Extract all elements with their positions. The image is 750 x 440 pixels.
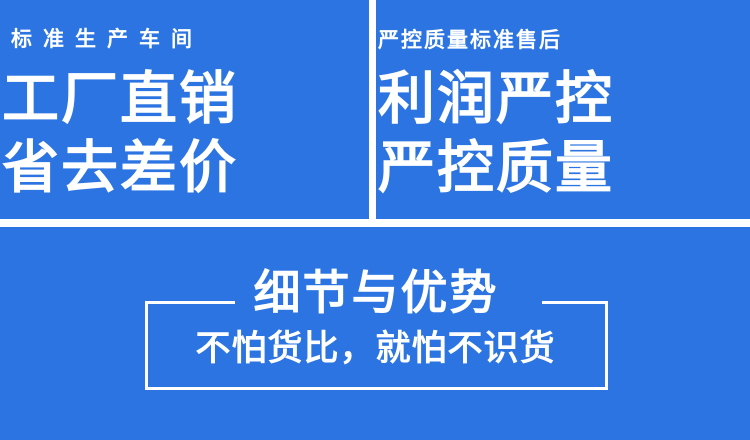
- panel-quality-control: 严控质量标准售后 利润严控 严控质量: [376, 0, 750, 219]
- panel-right-headline-line1: 利润严控: [376, 71, 750, 128]
- promo-banner: 标准生产车间 工厂直销 省去差价 严控质量标准售后 利润严控 严控质量 细节与优…: [0, 0, 750, 440]
- panel-left-headline-line2: 省去差价: [0, 140, 369, 197]
- panel-factory-direct: 标准生产车间 工厂直销 省去差价: [0, 0, 369, 219]
- panel-left-kicker: 标准生产车间: [0, 29, 369, 50]
- panel-details-advantages: 细节与优势 不怕货比，就怕不识货: [0, 227, 750, 440]
- panel-left-headline-line1: 工厂直销: [0, 71, 369, 128]
- panel-right-headline-line2: 严控质量: [376, 140, 750, 197]
- panel-bottom-subtitle: 不怕货比，就怕不识货: [0, 331, 750, 366]
- panel-right-kicker: 严控质量标准售后: [376, 30, 750, 51]
- panel-bottom-title: 细节与优势: [0, 269, 750, 316]
